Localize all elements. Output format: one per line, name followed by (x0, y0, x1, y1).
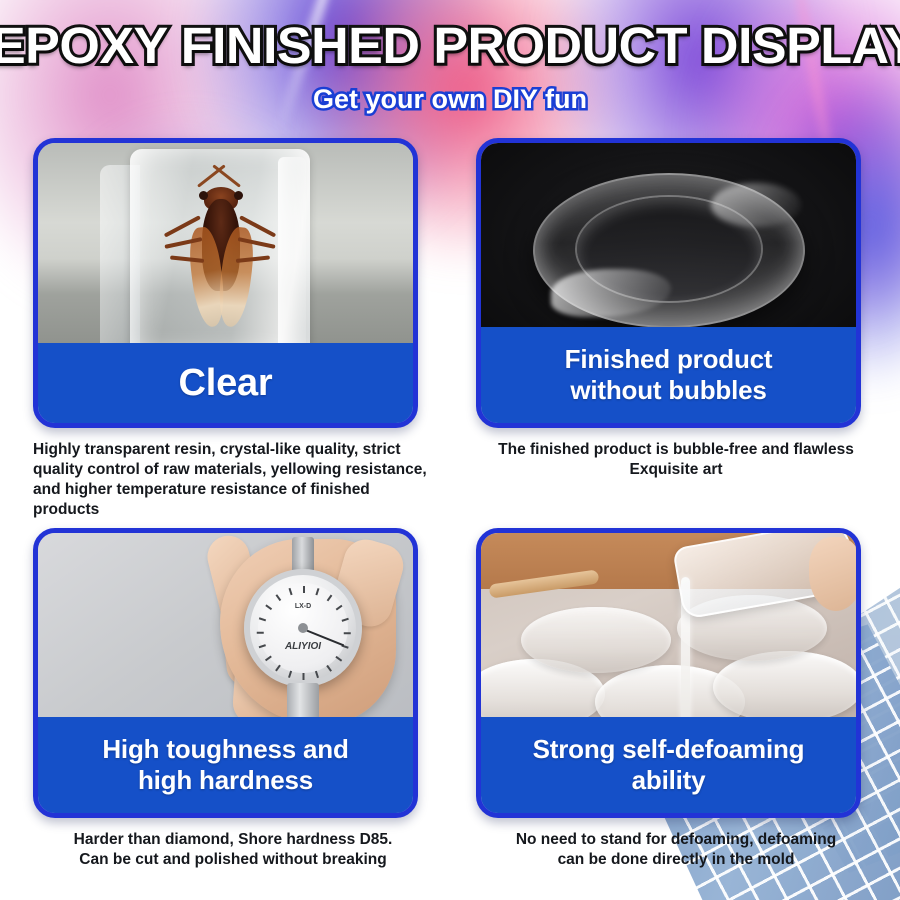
card-label-text: Clear (170, 361, 280, 405)
card-caption-clear: Highly transparent resin, crystal-like q… (33, 440, 433, 520)
feature-card-hardness[interactable]: LX-D ALIYIOI High toughness and (33, 528, 418, 870)
card-frame: Clear (33, 138, 418, 428)
card-label-band: Finished product without bubbles (481, 327, 856, 423)
caption-line1: No need to stand for defoaming, defoamin… (476, 830, 876, 850)
photo-pouring-resin (481, 533, 856, 743)
card-photo-hardness: LX-D ALIYIOI (38, 533, 413, 743)
card-row-top: Clear Highly transparent resin, crystal-… (0, 138, 900, 400)
feature-card-clear[interactable]: Clear Highly transparent resin, crystal-… (33, 138, 418, 520)
poster-header: EPOXY FINISHED PRODUCT DISPLAY Get your … (0, 0, 900, 116)
resin-block-highlight (278, 157, 306, 353)
card-label-band: High toughness and high hardness (38, 717, 413, 813)
caption-line1: Harder than diamond, Shore hardness D85. (33, 830, 433, 850)
silicone-mold (521, 607, 671, 673)
cicada-eye (234, 191, 243, 200)
silicone-mold (713, 651, 856, 723)
card-frame: Finished product without bubbles (476, 138, 861, 428)
card-label-line2: without bubbles (562, 375, 774, 405)
card-label-band: Clear (38, 343, 413, 423)
card-row-bottom: LX-D ALIYIOI High toughness and (0, 528, 900, 788)
card-frame: Strong self-defoaming ability (476, 528, 861, 818)
card-label-line1: Finished product (557, 344, 781, 374)
photo-durometer-gauge: LX-D ALIYIOI (38, 533, 413, 743)
card-label-line2: ability (624, 765, 714, 795)
dish-highlight (711, 183, 801, 227)
gauge-hub (298, 623, 308, 633)
page-title: EPOXY FINISHED PRODUCT DISPLAY (0, 0, 900, 76)
card-frame: LX-D ALIYIOI High toughness and (33, 528, 418, 818)
page-subtitle: Get your own DIY fun (0, 82, 900, 116)
card-label-text: High toughness and high hardness (86, 734, 364, 796)
card-photo-no-bubbles (481, 143, 856, 353)
card-photo-clear (38, 143, 413, 353)
photo-resin-block-with-cicada (38, 143, 413, 353)
card-label-band: Strong self-defoaming ability (481, 717, 856, 813)
card-caption-defoaming: No need to stand for defoaming, defoamin… (476, 830, 876, 870)
card-caption-no-bubbles: The finished product is bubble-free and … (476, 440, 876, 480)
photo-clear-resin-dish (481, 143, 856, 353)
caption-line2: can be done directly in the mold (476, 850, 876, 870)
caption-line2: Can be cut and polished without breaking (33, 850, 433, 870)
poster-root: EPOXY FINISHED PRODUCT DISPLAY Get your … (0, 0, 900, 900)
caption-line1: The finished product is bubble-free and … (476, 440, 876, 460)
card-label-line1: Strong self-defoaming (525, 734, 813, 764)
durometer-gauge-icon: LX-D ALIYIOI (244, 569, 362, 687)
feature-card-defoaming[interactable]: Strong self-defoaming ability No need to… (476, 528, 861, 870)
feature-card-grid: Clear Highly transparent resin, crystal-… (0, 138, 900, 788)
caption-line2: Exquisite art (476, 460, 876, 480)
feature-card-no-bubbles[interactable]: Finished product without bubbles The fin… (476, 138, 861, 480)
cicada-icon (188, 179, 254, 339)
card-label-text: Strong self-defoaming ability (517, 734, 821, 796)
card-caption-hardness: Harder than diamond, Shore hardness D85.… (33, 830, 433, 870)
card-label-line1: High toughness and (94, 734, 356, 764)
card-photo-defoaming (481, 533, 856, 743)
card-label-text: Finished product without bubbles (549, 344, 789, 406)
card-label-line2: high hardness (130, 765, 321, 795)
gauge-face: LX-D ALIYIOI (258, 583, 348, 673)
cicada-eye (199, 191, 208, 200)
thumb (809, 537, 856, 611)
gauge-model-text: LX-D (258, 603, 348, 610)
